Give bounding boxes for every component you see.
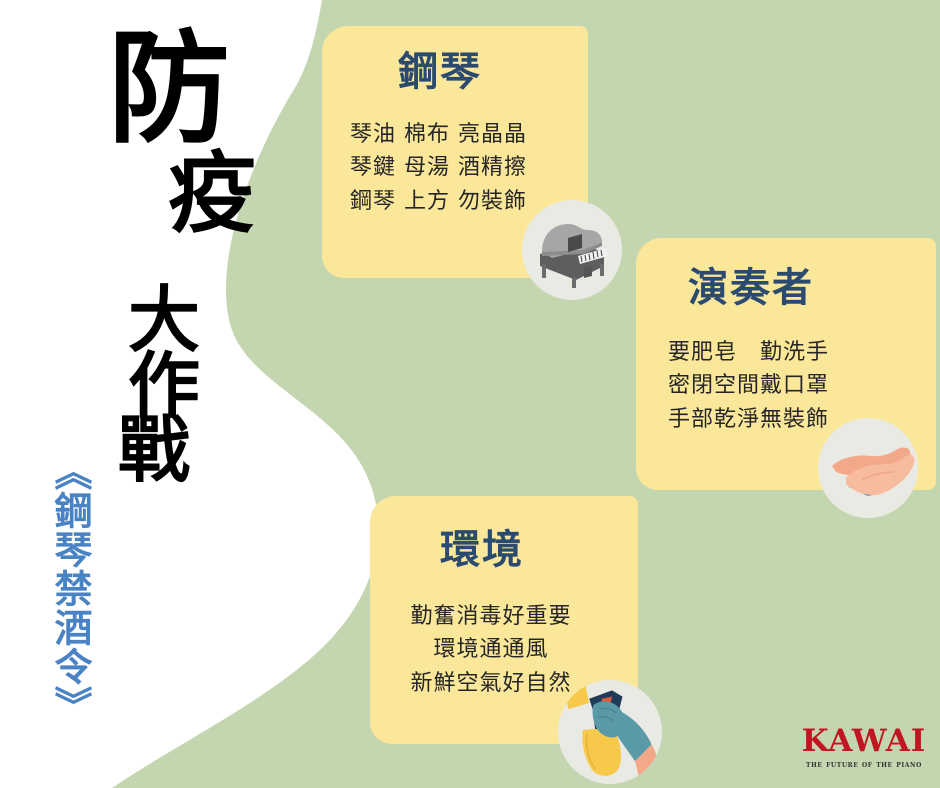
spray-bottle-icon (558, 680, 662, 784)
grand-piano-glyph (522, 200, 622, 300)
card-environment-line-1: 勤奮消毒好重要 (398, 600, 584, 633)
card-performer-line-2: 密閉空間戴口罩 (668, 369, 829, 402)
card-piano-lines: 琴油 棉布 亮晶晶 琴鍵 母湯 酒精擦 鋼琴 上方 勿裝飾 (350, 118, 527, 218)
card-performer-heading: 演奏者 (688, 268, 814, 308)
subtitle-vertical: 《鋼琴禁酒令》 (44, 452, 90, 725)
kawai-logo: KAWAI The Future of the Piano (800, 726, 928, 770)
card-piano-heading: 鋼琴 (398, 52, 482, 92)
card-performer-lines: 要肥皂 勤洗手 密閉空間戴口罩 手部乾淨無裝飾 (668, 336, 829, 436)
card-environment-line-3: 新鮮空氣好自然 (398, 667, 584, 700)
title-char-2: 疫 (168, 150, 256, 238)
card-environment-line-2: 環境通通風 (398, 633, 584, 666)
title-char-1: 防 (108, 28, 230, 150)
spray-bottle-glyph (558, 680, 662, 784)
card-environment-lines: 勤奮消毒好重要 環境通通風 新鮮空氣好自然 (398, 600, 584, 700)
card-performer-line-1: 要肥皂 勤洗手 (668, 336, 829, 369)
title-char-5: 戰 (118, 414, 190, 486)
kawai-wordmark: KAWAI (800, 726, 928, 757)
card-piano-line-2: 琴鍵 母湯 酒精擦 (350, 151, 527, 184)
grand-piano-icon (522, 200, 622, 300)
card-performer-line-3: 手部乾淨無裝飾 (668, 403, 829, 436)
washing-hands-glyph (818, 418, 918, 518)
poster-canvas: 防 疫 大 作 戰 《鋼琴禁酒令》 鋼琴 琴油 棉布 亮晶晶 琴鍵 母湯 酒精擦… (0, 0, 940, 788)
card-piano-line-3: 鋼琴 上方 勿裝飾 (350, 185, 527, 218)
kawai-tagline: The Future of the Piano (800, 761, 928, 770)
card-environment-heading: 環境 (440, 530, 524, 570)
card-piano-line-1: 琴油 棉布 亮晶晶 (350, 118, 527, 151)
washing-hands-icon (818, 418, 918, 518)
